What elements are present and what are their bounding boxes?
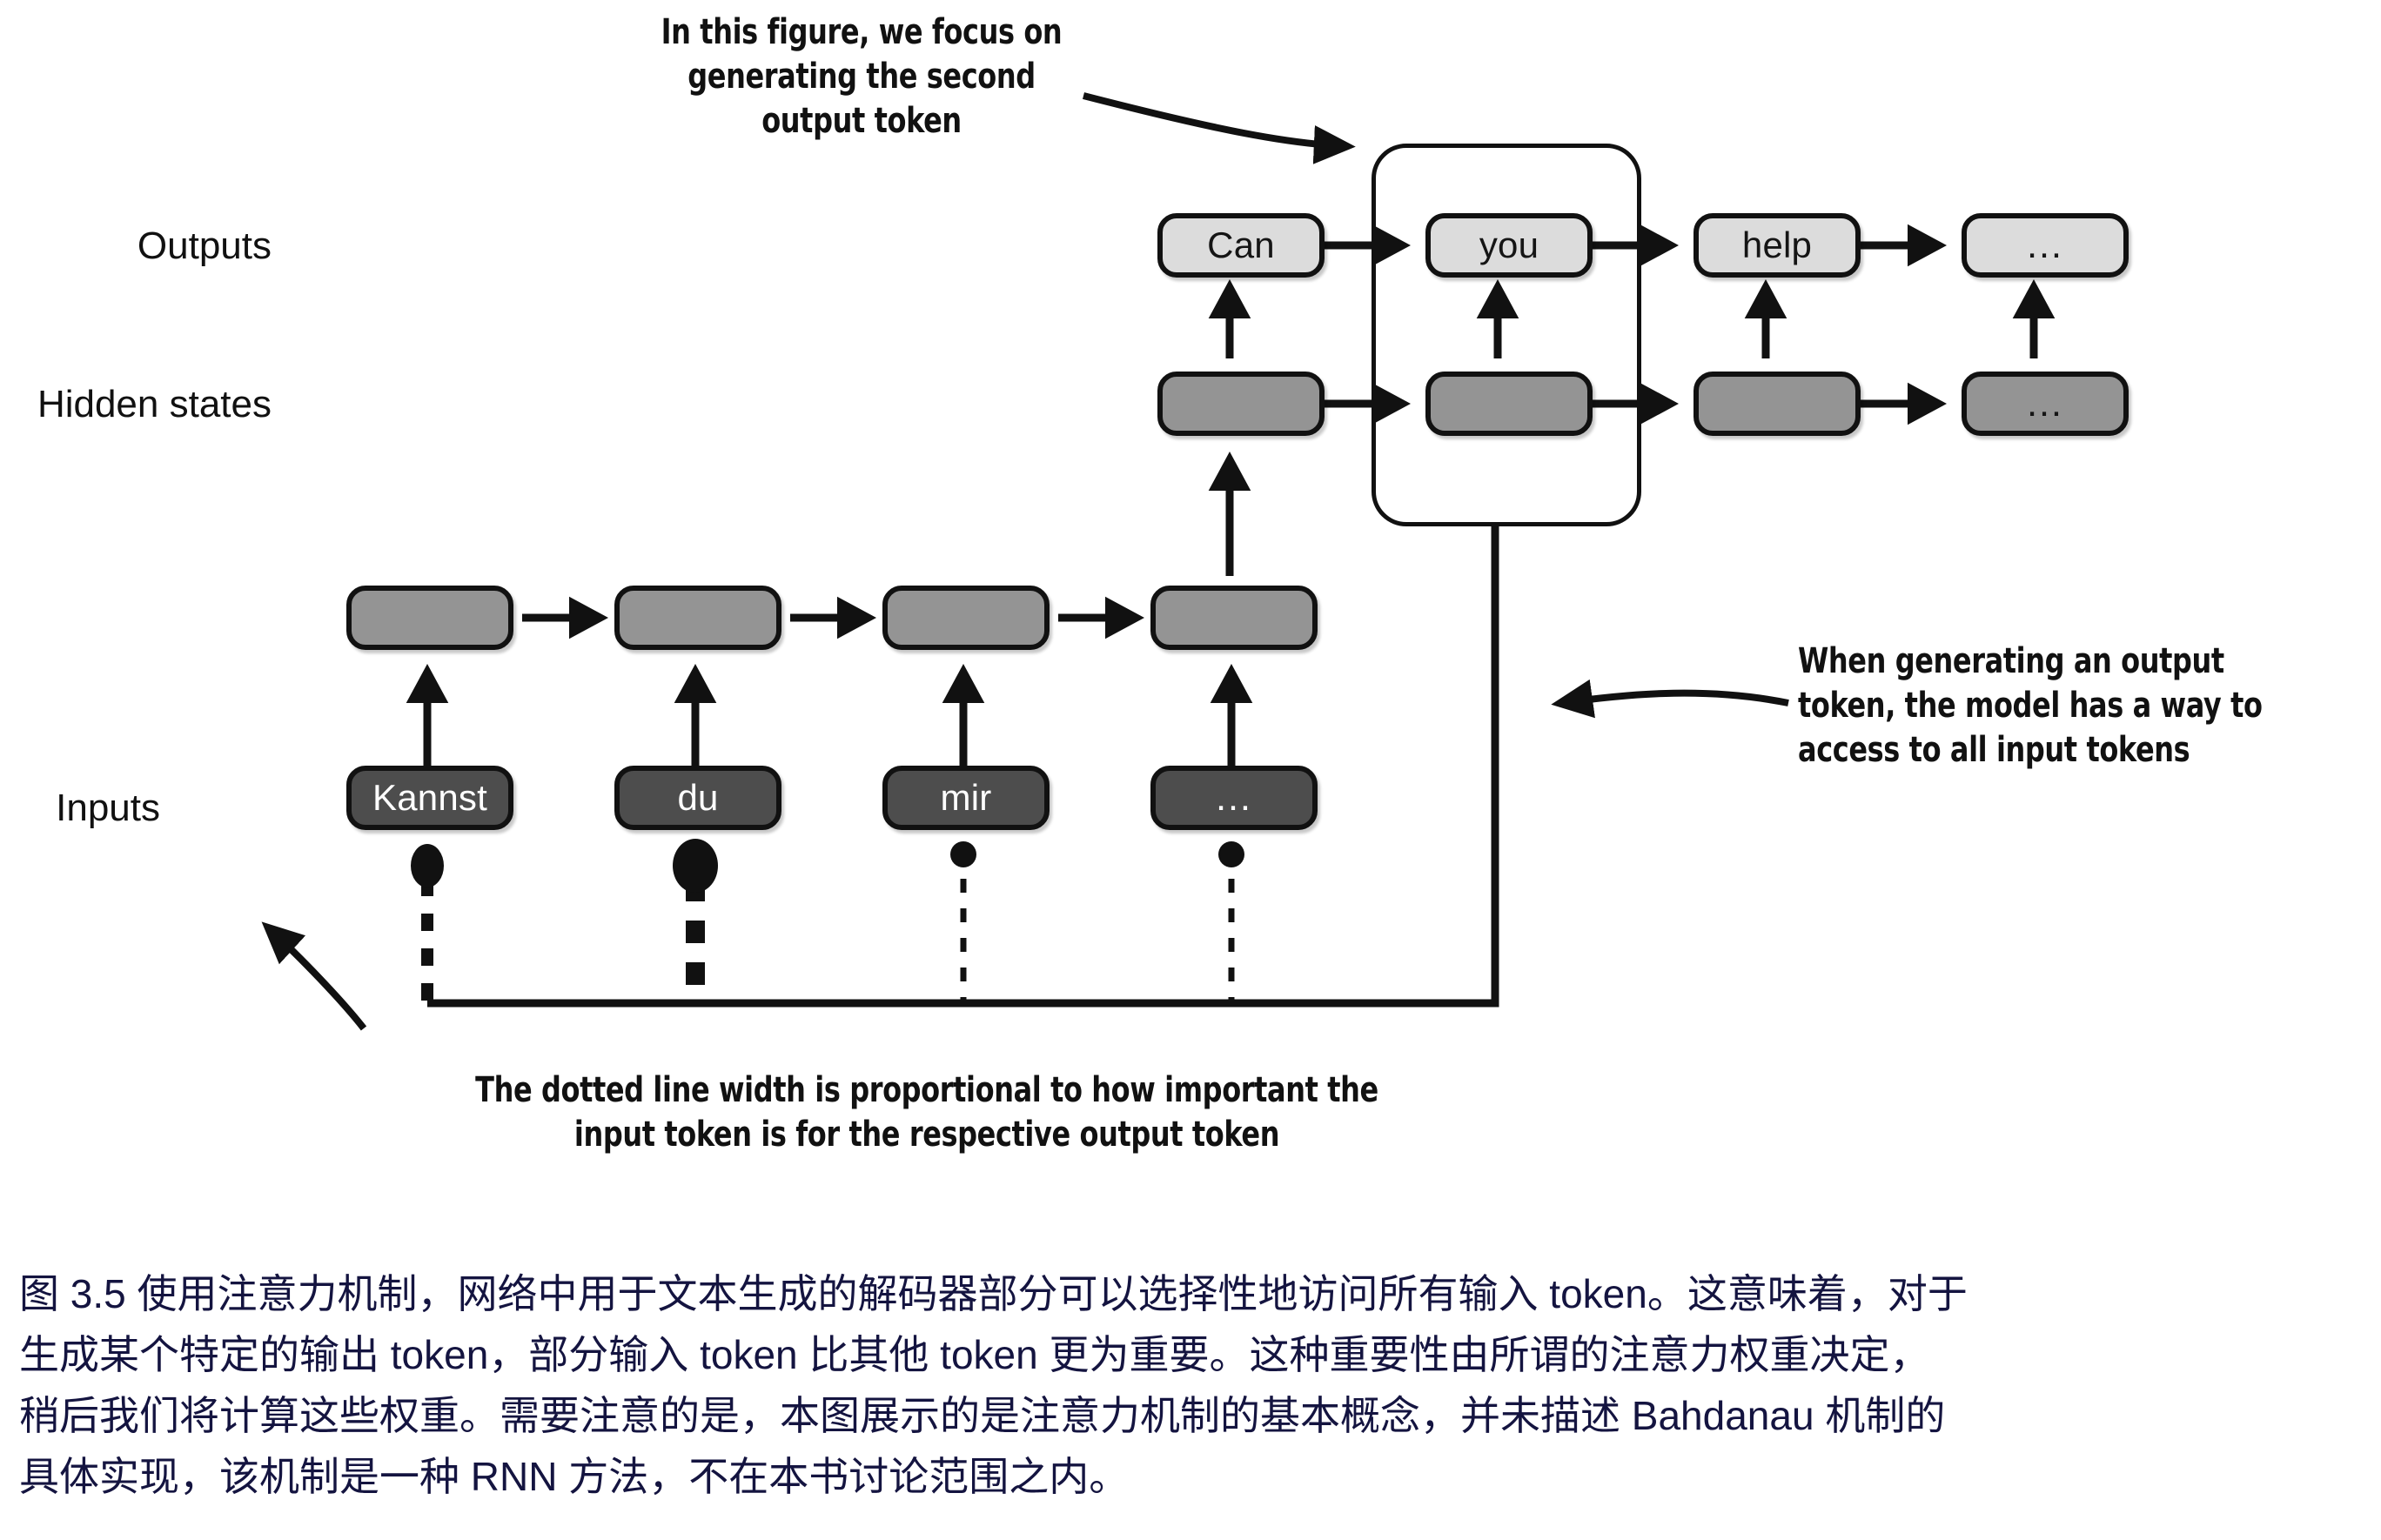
attention-dot-kannst bbox=[411, 844, 444, 887]
leader-arrow-access bbox=[1562, 693, 1788, 703]
annotation-dotted-line-width: The dotted line width is proportional to… bbox=[422, 1068, 1432, 1157]
annotation-dotted-line-1: input token is for the respective output… bbox=[422, 1113, 1432, 1157]
leader-arrow-focus bbox=[1083, 96, 1345, 146]
row-label-inputs: Inputs bbox=[56, 787, 160, 830]
annotation-focus-line-2: output token bbox=[632, 99, 1091, 144]
annotation-access-line-1: token, the model has a way to bbox=[1798, 684, 2381, 728]
leader-arrow-dotted bbox=[270, 929, 364, 1028]
decoder-hidden-state-0[interactable] bbox=[1157, 372, 1325, 436]
figure-caption: 图 3.5 使用注意力机制，网络中用于文本生成的解码器部分可以选择性地访问所有输… bbox=[19, 1263, 2369, 1507]
row-label-hidden-states: Hidden states bbox=[37, 383, 272, 426]
decoder-hidden-state-1[interactable] bbox=[1425, 372, 1593, 436]
input-token-1[interactable]: du bbox=[614, 766, 781, 830]
attention-dot-du bbox=[673, 839, 718, 893]
annotation-access: When generating an output token, the mod… bbox=[1798, 639, 2381, 773]
caption-line-3: 具体实现，该机制是一种 RNN 方法，不在本书讨论范围之内。 bbox=[19, 1446, 2369, 1507]
input-token-2[interactable]: mir bbox=[882, 766, 1050, 830]
annotation-focus-line-0: In this figure, we focus on bbox=[632, 10, 1091, 55]
attention-dot-ellipsis bbox=[1218, 841, 1244, 867]
caption-line-2: 稍后我们将计算这些权重。需要注意的是，本图展示的是注意力机制的基本概念，并未描述… bbox=[19, 1385, 2369, 1446]
attention-dot-mir bbox=[950, 841, 976, 867]
output-token-3[interactable]: … bbox=[1962, 213, 2129, 278]
figure-page: Outputs Hidden states Inputs Can you hel… bbox=[0, 0, 2381, 1540]
caption-line-1: 生成某个特定的输出 token，部分输入 token 比其他 token 更为重… bbox=[19, 1324, 2369, 1385]
output-token-0[interactable]: Can bbox=[1157, 213, 1325, 278]
row-label-outputs: Outputs bbox=[137, 224, 272, 268]
caption-line-0: 图 3.5 使用注意力机制，网络中用于文本生成的解码器部分可以选择性地访问所有输… bbox=[19, 1263, 2369, 1324]
encoder-hidden-state-2[interactable] bbox=[882, 586, 1050, 650]
annotation-focus: In this figure, we focus on generating t… bbox=[632, 10, 1091, 144]
attention-mechanism-diagram: Outputs Hidden states Inputs Can you hel… bbox=[0, 0, 2381, 1218]
annotation-focus-line-1: generating the second bbox=[632, 55, 1091, 99]
attention-weight-dots bbox=[411, 839, 1244, 893]
output-token-2[interactable]: help bbox=[1694, 213, 1861, 278]
annotation-access-line-0: When generating an output bbox=[1798, 639, 2381, 684]
annotation-dotted-line-0: The dotted line width is proportional to… bbox=[422, 1068, 1432, 1113]
decoder-hidden-state-2[interactable] bbox=[1694, 372, 1861, 436]
encoder-hidden-state-3[interactable] bbox=[1150, 586, 1318, 650]
input-token-0[interactable]: Kannst bbox=[346, 766, 513, 830]
decoder-hidden-state-3[interactable]: … bbox=[1962, 372, 2129, 436]
input-token-3[interactable]: … bbox=[1150, 766, 1318, 830]
encoder-hidden-state-1[interactable] bbox=[614, 586, 781, 650]
encoder-hidden-state-0[interactable] bbox=[346, 586, 513, 650]
annotation-access-line-2: access to all input tokens bbox=[1798, 728, 2381, 773]
output-token-1[interactable]: you bbox=[1425, 213, 1593, 278]
